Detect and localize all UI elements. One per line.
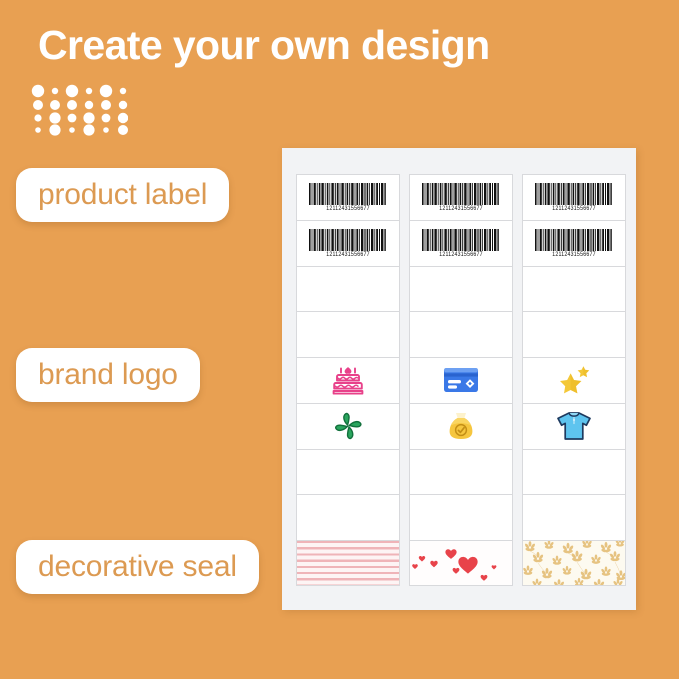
dot-grid-decoration	[30, 84, 128, 136]
label-cell-blank	[297, 267, 399, 313]
label-cell-icon-tshirt	[523, 404, 625, 450]
barcode-icon	[309, 183, 387, 205]
label-cell-blank	[523, 450, 625, 496]
label-cell-blank	[410, 267, 512, 313]
label-column-2: 12112431556677	[409, 174, 513, 586]
chip-brand-logo: brand logo	[16, 348, 200, 402]
credit-card-icon	[443, 366, 479, 394]
label-cell-pattern-hearts	[410, 541, 512, 586]
barcode-icon	[309, 229, 387, 251]
label-sheet-grid: 12112431556677	[296, 174, 626, 586]
clover-icon	[333, 411, 364, 441]
label-cell-blank	[523, 495, 625, 541]
hearts-art	[410, 541, 512, 586]
barcode-icon	[422, 183, 500, 205]
label-cell-barcode: 12112431556677	[297, 175, 399, 221]
barcode-number: 12112431556677	[439, 251, 483, 258]
label-cell-barcode: 12112431556677	[410, 221, 512, 267]
label-cell-blank	[523, 312, 625, 358]
label-column-1: 12112431556677	[296, 174, 400, 586]
gold-floral-pattern	[523, 541, 625, 586]
barcode-icon	[535, 183, 613, 205]
chip-product-label: product label	[16, 168, 229, 222]
label-cell-blank	[410, 495, 512, 541]
cake-icon	[332, 365, 364, 396]
label-cell-icon-credit-card	[410, 358, 512, 404]
label-cell-barcode: 12112431556677	[523, 221, 625, 267]
label-cell-icon-cake	[297, 358, 399, 404]
label-cell-icon-money-bag	[410, 404, 512, 450]
label-sheet: 12112431556677	[282, 148, 636, 610]
barcode-icon	[535, 229, 613, 251]
label-cell-icon-clover	[297, 404, 399, 450]
label-cell-barcode: 12112431556677	[410, 175, 512, 221]
label-cell-blank	[523, 267, 625, 313]
money-bag-icon	[447, 411, 475, 441]
chip-decorative-seal: decorative seal	[16, 540, 259, 594]
barcode-number: 12112431556677	[552, 251, 596, 258]
label-column-3: 12112431556677	[522, 174, 626, 586]
dot-grid-icon	[30, 84, 128, 136]
red-hearts-pattern	[410, 541, 512, 586]
label-cell-blank	[297, 450, 399, 496]
barcode-number: 12112431556677	[439, 205, 483, 212]
page-title: Create your own design	[38, 22, 490, 69]
label-cell-pattern-stripes	[297, 541, 399, 586]
stars-icon	[557, 365, 591, 395]
label-cell-blank	[410, 450, 512, 496]
label-cell-barcode: 12112431556677	[297, 221, 399, 267]
gold-floral-art	[523, 541, 625, 586]
chip-brand-logo-text: brand logo	[38, 358, 178, 392]
barcode-icon	[422, 229, 500, 251]
label-cell-barcode: 12112431556677	[523, 175, 625, 221]
pink-stripes-pattern	[297, 541, 399, 586]
label-cell-pattern-gold-floral	[523, 541, 625, 586]
label-cell-blank	[297, 312, 399, 358]
tshirt-icon	[556, 411, 592, 441]
label-cell-blank	[410, 312, 512, 358]
chip-decorative-seal-text: decorative seal	[38, 550, 237, 584]
chip-product-label-text: product label	[38, 178, 207, 212]
label-cell-icon-stars	[523, 358, 625, 404]
barcode-number: 12112431556677	[552, 205, 596, 212]
barcode-number: 12112431556677	[326, 205, 370, 212]
label-cell-blank	[297, 495, 399, 541]
barcode-number: 12112431556677	[326, 251, 370, 258]
